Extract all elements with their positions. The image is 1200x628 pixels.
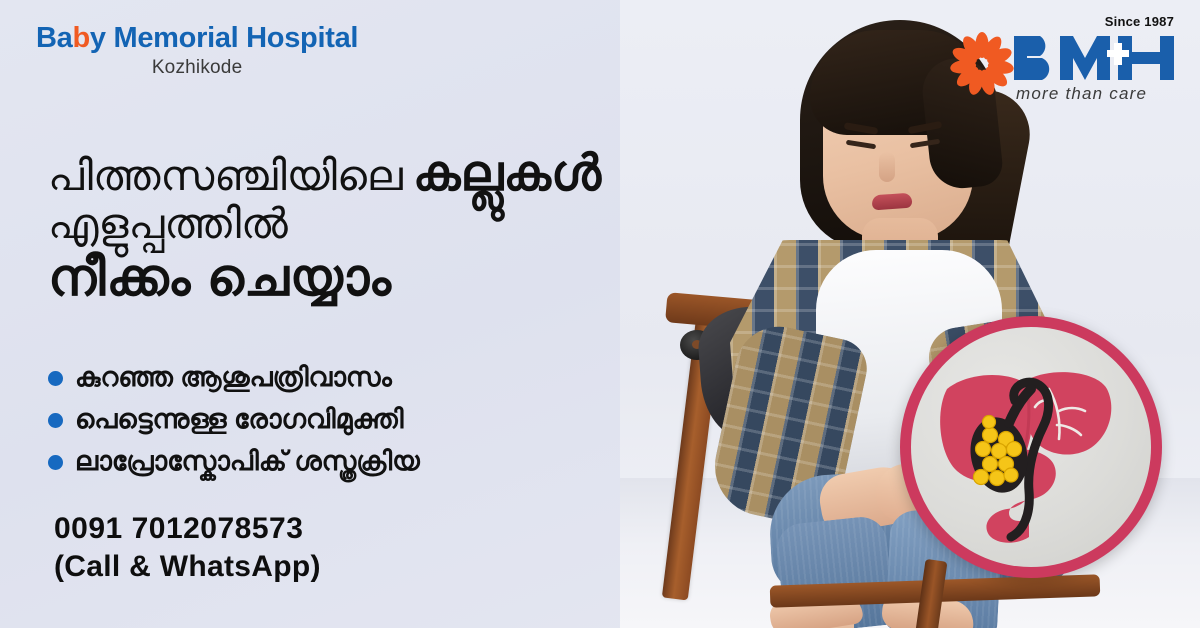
ad-banner: Baby Memorial Hospital Kozhikode Since 1…	[0, 0, 1200, 628]
headline-line-1-emphasis: കല്ലുകൾ	[413, 145, 601, 201]
nose	[879, 152, 895, 182]
brand-name-accent-letter: b	[72, 22, 89, 54]
list-item: പെട്ടെന്നുള്ള രോഗവിമുക്തി	[48, 404, 420, 436]
brand-city: Kozhikode	[36, 57, 358, 79]
headline-line-1-normal: പിത്തസഞ്ചിയിലെ	[48, 152, 403, 199]
bmh-monogram-icon	[1012, 34, 1176, 82]
bmh-logo: Since 1987	[950, 14, 1178, 112]
logo-tagline: more than care	[1016, 84, 1147, 104]
contact-block: 0091 7012078573 (Call & WhatsApp)	[54, 512, 321, 584]
list-item: കുറഞ്ഞ ആശുപത്രിവാസം	[48, 362, 420, 394]
flower-icon	[950, 32, 1014, 96]
headline-block: പിത്തസഞ്ചിയിലെകല്ലുകൾ എളുപ്പത്തിൽ നീക്കം…	[48, 148, 788, 305]
brand-name-part1: Ba	[36, 22, 72, 54]
bullet-dot-icon	[48, 371, 63, 386]
illustration-inner	[911, 327, 1151, 567]
bullet-label: ലാപ്രോസ്കോപിക് ശസ്ത്രക്രിയ	[75, 446, 420, 478]
benefits-list: കുറഞ്ഞ ആശുപത്രിവാസം പെട്ടെന്നുള്ള രോഗവിമ…	[48, 362, 420, 488]
gallbladder-illustration	[900, 316, 1162, 578]
headline-line-1: പിത്തസഞ്ചിയിലെകല്ലുകൾ	[48, 148, 788, 199]
since-label: Since 1987	[1105, 14, 1174, 29]
bullet-dot-icon	[48, 455, 63, 470]
list-item: ലാപ്രോസ്കോപിക് ശസ്ത്രക്രിയ	[48, 446, 420, 478]
liver-gallstones-icon	[911, 327, 1151, 567]
bullet-label: കുറഞ്ഞ ആശുപത്രിവാസം	[75, 362, 392, 394]
contact-channels: (Call & WhatsApp)	[54, 550, 321, 584]
headline-line-2: എളുപ്പത്തിൽ	[48, 203, 788, 246]
mouth	[872, 193, 913, 211]
bullet-label: പെട്ടെന്നുള്ള രോഗവിമുക്തി	[75, 404, 404, 436]
brand-name-part2: y Memorial Hospital	[90, 22, 358, 54]
brand-block: Baby Memorial Hospital Kozhikode	[36, 22, 358, 79]
phone-number[interactable]: 0091 7012078573	[54, 512, 321, 546]
brand-name: Baby Memorial Hospital	[36, 22, 358, 55]
headline-line-3: നീക്കം ചെയ്യാം	[48, 252, 788, 305]
bullet-dot-icon	[48, 413, 63, 428]
